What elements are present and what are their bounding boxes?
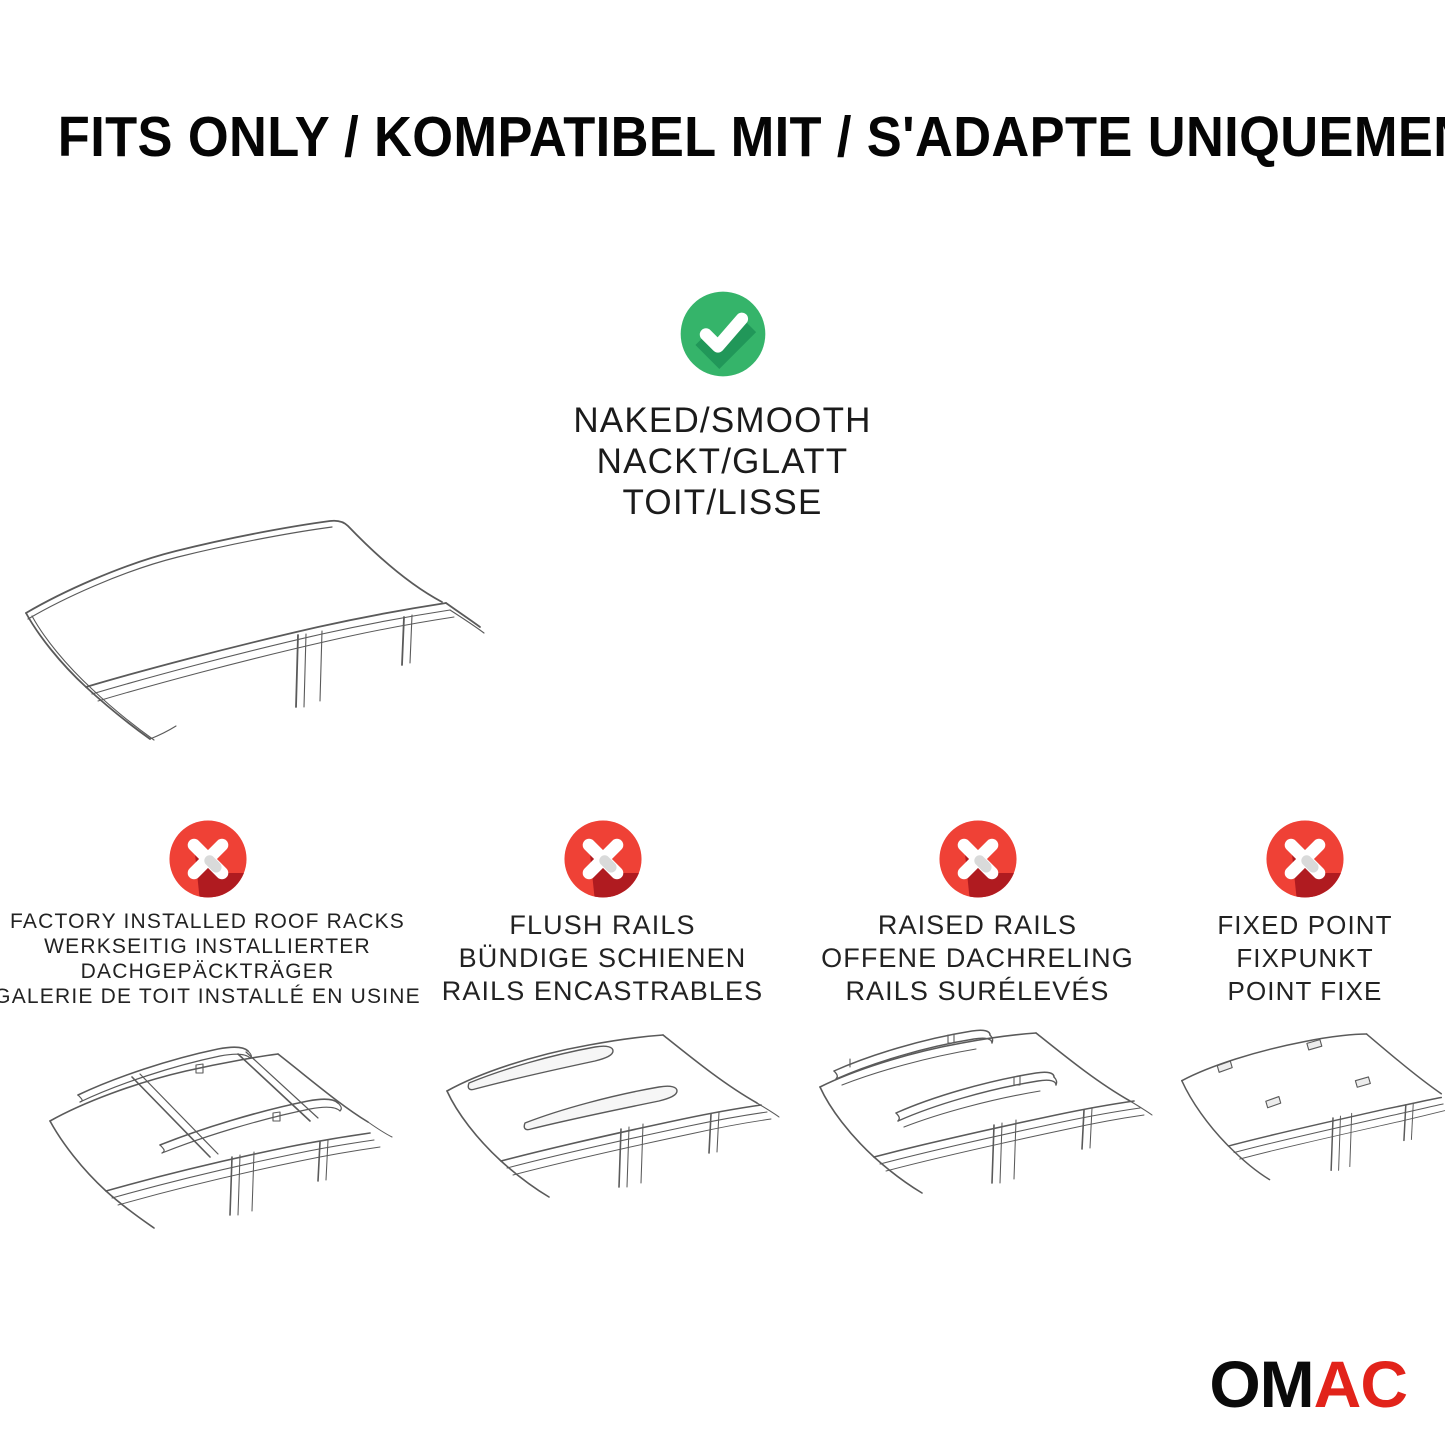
compatible-line-en: NAKED/SMOOTH [573, 401, 871, 440]
logo-text-red: AC [1314, 1347, 1407, 1421]
incompatible-line-en: RAISED RAILS [821, 909, 1134, 942]
incompatible-line-de-2: DACHGEPÄCKTRÄGER [0, 959, 421, 984]
page-title: FITS ONLY / KOMPATIBEL MIT / S'ADAPTE UN… [58, 104, 1387, 170]
incompatible-label: RAISED RAILS OFFENE DACHRELING RAILS SUR… [821, 909, 1134, 1008]
incompatible-label: FIXED POINT FIXPUNKT POINT FIXE [1217, 909, 1392, 1008]
cross-circle-icon [1264, 818, 1346, 900]
cross-circle-icon [562, 818, 644, 900]
incompatible-line-de: OFFENE DACHRELING [821, 942, 1134, 975]
car-roof-naked-smooth-illustration [0, 495, 1445, 755]
incompatible-item-factory-roof-racks: FACTORY INSTALLED ROOF RACKS WERKSEITIG … [0, 818, 415, 1009]
compatible-block: NAKED/SMOOTH NACKT/GLATT TOIT/LISSE [0, 288, 1445, 523]
incompatible-line-en: FIXED POINT [1217, 909, 1392, 942]
incompatible-line-de: FIXPUNKT [1217, 942, 1392, 975]
incompatible-item-raised-rails: RAISED RAILS OFFENE DACHRELING RAILS SUR… [790, 818, 1165, 1008]
incompatible-item-fixed-point: FIXED POINT FIXPUNKT POINT FIXE [1165, 818, 1445, 1008]
check-circle-icon [677, 288, 769, 380]
incompatible-label: FACTORY INSTALLED ROOF RACKS WERKSEITIG … [0, 909, 421, 1009]
car-roof-factory-installed-racks-illustration [0, 1025, 415, 1240]
compatibility-infographic: FITS ONLY / KOMPATIBEL MIT / S'ADAPTE UN… [0, 0, 1445, 1445]
car-roof-fixed-point-illustration [1165, 1025, 1445, 1240]
compatible-line-de: NACKT/GLATT [597, 442, 849, 481]
incompatible-line-fr: RAILS ENCASTRABLES [442, 975, 763, 1008]
incompatible-line-fr: POINT FIXE [1217, 975, 1392, 1008]
incompatible-item-flush-rails: FLUSH RAILS BÜNDIGE SCHIENEN RAILS ENCAS… [415, 818, 790, 1008]
incompatible-line-de-1: WERKSEITIG INSTALLIERTER [0, 934, 421, 959]
incompatible-row: FACTORY INSTALLED ROOF RACKS WERKSEITIG … [0, 818, 1445, 1009]
incompatible-label: FLUSH RAILS BÜNDIGE SCHIENEN RAILS ENCAS… [442, 909, 763, 1008]
logo-text-black: OM [1209, 1347, 1313, 1421]
incompatible-line-fr: GALERIE DE TOIT INSTALLÉ EN USINE [0, 984, 421, 1009]
incompatible-line-fr: RAILS SURÉLEVÉS [821, 975, 1134, 1008]
cross-circle-icon [167, 818, 249, 900]
car-roof-raised-rails-illustration [790, 1025, 1165, 1240]
incompatible-line-en: FACTORY INSTALLED ROOF RACKS [0, 909, 421, 934]
omac-logo: OMAC [1209, 1351, 1407, 1417]
car-roof-flush-rails-illustration [415, 1025, 790, 1240]
incompatible-line-en: FLUSH RAILS [442, 909, 763, 942]
incompatible-illustrations [0, 1025, 1445, 1240]
cross-circle-icon [937, 818, 1019, 900]
incompatible-line-de: BÜNDIGE SCHIENEN [442, 942, 763, 975]
